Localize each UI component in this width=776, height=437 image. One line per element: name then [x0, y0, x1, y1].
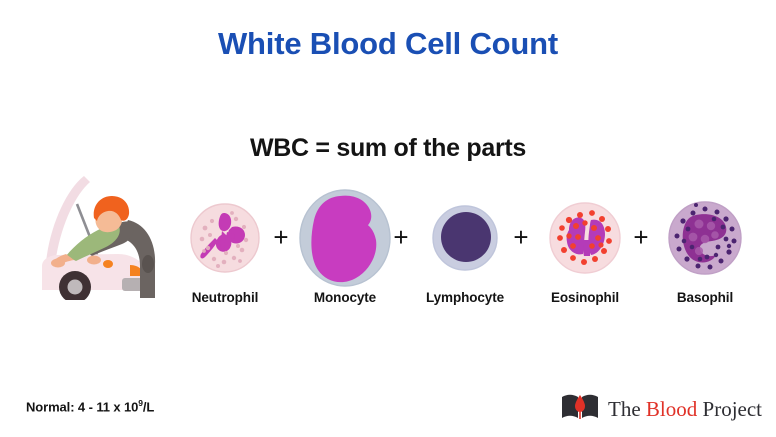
cell-group-neutrophil: Neutrophil: [172, 186, 278, 326]
normal-range-label: Normal: 4 - 11 x 10: [26, 399, 138, 414]
lymphocyte-cell-icon: [412, 186, 518, 290]
plus-operator-1: +: [270, 226, 292, 248]
basophil-cell-icon: [652, 186, 758, 290]
brand-logo[interactable]: The Blood Project: [560, 392, 762, 427]
cell-group-basophil: Basophil: [652, 186, 758, 326]
plus-operator-4: +: [630, 226, 652, 248]
mechanic-car-illustration: [22, 168, 172, 300]
brand-prefix: The: [608, 397, 646, 421]
wbc-cell-equation-row: Neutrophil + Monocyte + Lymphocyte +: [172, 186, 764, 326]
plus-operator-3: +: [510, 226, 532, 248]
neutrophil-cell-icon: [172, 186, 278, 290]
normal-range-text: Normal: 4 - 11 x 109/L: [26, 398, 154, 414]
normal-range-unit: /L: [143, 399, 154, 414]
cell-label-eosinophil: Eosinophil: [526, 290, 644, 305]
brand-highlight: Blood: [646, 397, 697, 421]
subtitle-equation: WBC = sum of the parts: [0, 134, 776, 163]
cell-group-monocyte: Monocyte: [292, 186, 398, 326]
brand-name: The Blood Project: [608, 397, 762, 422]
open-book-blood-drop-logo: [560, 392, 600, 427]
page-title: White Blood Cell Count: [0, 26, 776, 62]
eosinophil-cell-icon: [532, 186, 638, 290]
cell-label-lymphocyte: Lymphocyte: [406, 290, 524, 305]
cell-label-neutrophil: Neutrophil: [166, 290, 284, 305]
plus-operator-2: +: [390, 226, 412, 248]
cell-group-eosinophil: Eosinophil: [532, 186, 638, 326]
brand-suffix: Project: [697, 397, 762, 421]
cell-label-monocyte: Monocyte: [286, 290, 404, 305]
cell-label-basophil: Basophil: [646, 290, 764, 305]
monocyte-cell-icon: [292, 186, 398, 290]
cell-group-lymphocyte: Lymphocyte: [412, 186, 518, 326]
